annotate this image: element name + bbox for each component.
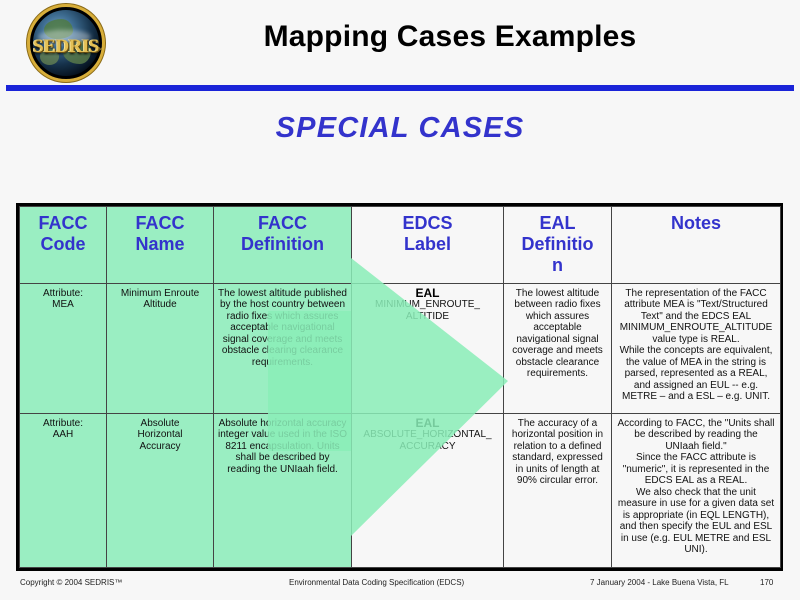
cell-eal-definition: The lowest altitude between radio fixes … [504,283,612,413]
column-header-facc-code: FACC Code [20,207,107,284]
header-line-1: Notes [671,213,721,233]
cell-notes: The representation of the FACC attribute… [612,283,781,413]
cell-facc-name: Minimum Enroute Altitude [107,283,214,413]
cell-notes: According to FACC, the "Units shall be d… [612,413,781,567]
header-line-3: n [552,255,563,275]
footer-document: Environmental Data Coding Specification … [289,578,464,587]
cell-facc-code: Attribute: AAH [20,413,107,567]
cell-eal-definition: The accuracy of a horizontal position in… [504,413,612,567]
header-line-1: FACC [136,213,185,233]
header-line-2: Name [135,234,184,254]
column-header-facc-definition: FACC Definition [214,207,352,284]
header-line-2: Definitio [522,234,594,254]
table-row: Attribute: AAH Absolute Horizontal Accur… [20,413,781,567]
eal-tag: EAL [356,418,499,430]
section-subtitle: SPECIAL CASES [0,112,800,145]
header-line-1: EDCS [402,213,452,233]
eal-identifier: MINIMUM_ENROUTE_ ALTITIDE [356,299,499,322]
eal-tag: EAL [356,288,499,300]
slide-header: SEDRIS ™ Mapping Cases Examples [0,0,800,88]
cell-facc-code: Attribute: MEA [20,283,107,413]
slide-footer: Copyright © 2004 SEDRIS™ Environmental D… [0,578,800,596]
table-row: Attribute: MEA Minimum Enroute Altitude … [20,283,781,413]
table-header-row: FACC Code FACC Name FACC Definition EDCS… [20,207,781,284]
eal-identifier: ABSOLUTE_HORIZONTAL_ ACCURACY [356,429,499,452]
cell-facc-definition: Absolute horizontal accuracy integer val… [214,413,352,567]
column-header-edcs-label: EDCS Label [352,207,504,284]
mapping-cases-table: FACC Code FACC Name FACC Definition EDCS… [19,206,781,568]
page-title: Mapping Cases Examples [150,20,750,54]
footer-copyright: Copyright © 2004 SEDRIS™ [20,578,122,587]
header-line-1: EAL [540,213,576,233]
mapping-cases-table-container: FACC Code FACC Name FACC Definition EDCS… [16,203,783,571]
header-line-2: Definition [241,234,324,254]
column-header-notes: Notes [612,207,781,284]
header-divider [6,85,794,91]
cell-facc-definition: The lowest altitude published by the hos… [214,283,352,413]
cell-edcs-label: EAL ABSOLUTE_HORIZONTAL_ ACCURACY [352,413,504,567]
header-line-1: FACC [258,213,307,233]
sedris-logo: SEDRIS ™ [22,6,114,80]
column-header-eal-definition: EAL Definitio n [504,207,612,284]
footer-event: 7 January 2004 - Lake Buena Vista, FL [590,578,729,587]
logo-trademark-icon: ™ [96,46,103,54]
header-line-1: FACC [39,213,88,233]
cell-edcs-label: EAL MINIMUM_ENROUTE_ ALTITIDE [352,283,504,413]
cell-facc-name: Absolute Horizontal Accuracy [107,413,214,567]
footer-page-number: 170 [760,578,773,587]
header-line-2: Label [404,234,451,254]
header-line-2: Code [41,234,86,254]
column-header-facc-name: FACC Name [107,207,214,284]
